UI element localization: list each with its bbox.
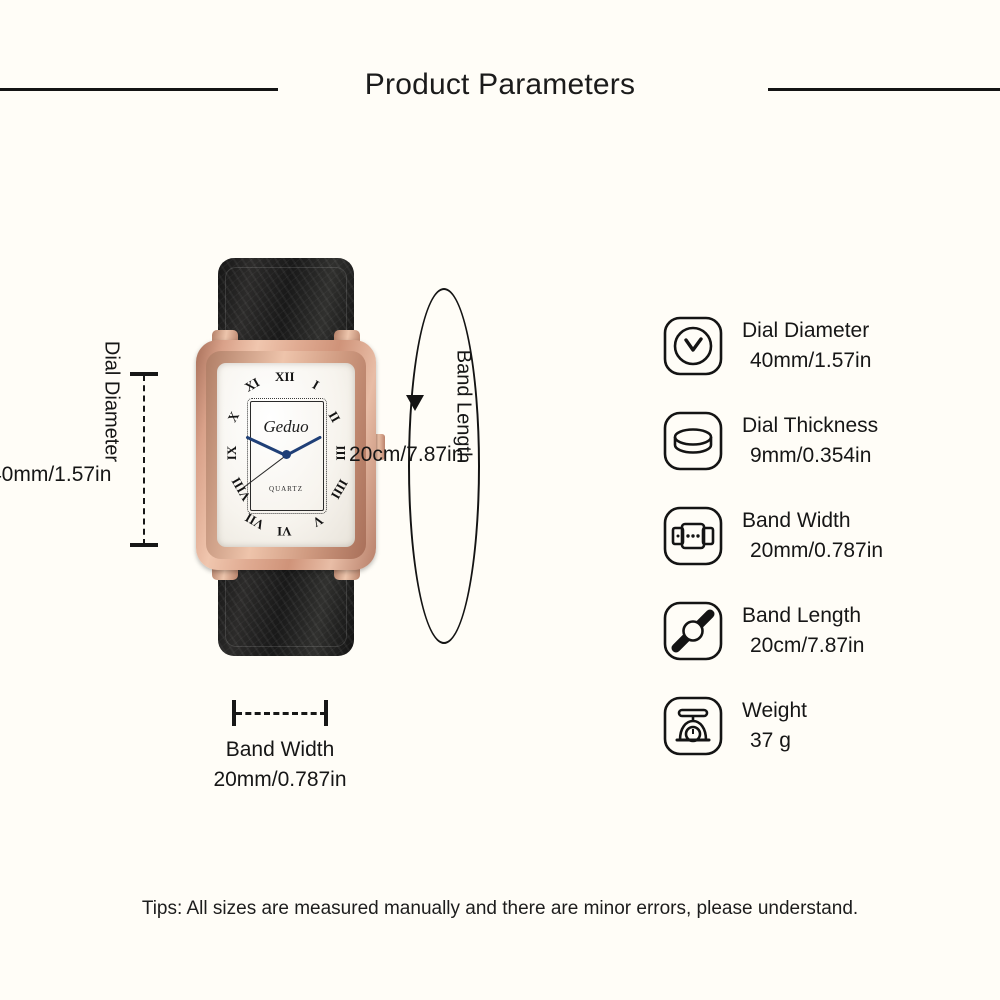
dial-numeral-1: I (309, 377, 321, 393)
band-length-callout-value: 20cm/7.87in (349, 443, 463, 467)
dial-hand-pinion (282, 450, 291, 459)
spec-value-weight: 37 g (742, 726, 807, 756)
spec-value-band-width: 20mm/0.787in (742, 536, 883, 566)
band-width-cap-right (324, 700, 328, 726)
disc-icon (662, 410, 724, 472)
spec-row-dial-thickness: Dial Thickness 9mm/0.354in (662, 393, 992, 488)
spec-text-band-width: Band Width 20mm/0.787in (742, 506, 883, 566)
band-width-callout-label: Band Width (226, 738, 335, 761)
spec-text-weight: Weight 37 g (742, 696, 807, 756)
spec-value-dial-diameter: 40mm/1.57in (742, 346, 871, 376)
dial-brand-name: Geduo (217, 417, 355, 437)
band-width-callout: Band Width 20mm/0.787in (130, 735, 430, 796)
dial-numeral-7: VII (242, 509, 267, 533)
scale-icon (662, 695, 724, 757)
spec-text-dial-diameter: Dial Diameter 40mm/1.57in (742, 316, 871, 376)
spec-label-weight: Weight (742, 699, 807, 722)
spec-label-band-width: Band Width (742, 509, 851, 532)
spec-text-dial-thickness: Dial Thickness 9mm/0.354in (742, 411, 878, 471)
product-parameters-infographic: Product Parameters XII I II III IIII V V (0, 0, 1000, 1000)
watch-dial: XII I II III IIII V VI VII VIII IX X XI … (217, 363, 355, 547)
dial-diameter-dimension-line (143, 375, 145, 545)
spec-label-dial-thickness: Dial Thickness (742, 414, 878, 437)
dial-diameter-cap-bottom (130, 543, 158, 547)
dial-movement-text: QUARTZ (217, 485, 355, 493)
spec-value-dial-thickness: 9mm/0.354in (742, 441, 878, 471)
band-length-arrow-icon (406, 395, 424, 411)
spec-row-weight: Weight 37 g (662, 678, 992, 773)
dial-diameter-callout-label: Dial Diameter (100, 327, 123, 477)
strap-icon (662, 600, 724, 662)
dial-diameter-callout-value: 40mm/1.57in (0, 463, 111, 487)
spec-row-band-length: Band Length 20cm/7.87in (662, 583, 992, 678)
spec-list: Dial Diameter 40mm/1.57in Dial Thickness… (662, 298, 992, 773)
dial-numeral-3: III (333, 445, 349, 460)
dial-numeral-12: XII (275, 369, 295, 385)
dial-numeral-9: IX (224, 446, 240, 460)
page-title: Product Parameters (0, 68, 1000, 102)
band-width-dimension-line (236, 712, 326, 715)
spec-row-band-width: Band Width 20mm/0.787in (662, 488, 992, 583)
dial-numeral-11: XI (242, 374, 263, 395)
spec-row-dial-diameter: Dial Diameter 40mm/1.57in (662, 298, 992, 393)
dial-numeral-6: VI (277, 523, 291, 539)
spec-label-band-length: Band Length (742, 604, 861, 627)
band-width-callout-value: 20mm/0.787in (213, 768, 346, 791)
buckle-icon (662, 505, 724, 567)
clock-icon (662, 315, 724, 377)
spec-text-band-length: Band Length 20cm/7.87in (742, 601, 864, 661)
spec-label-dial-diameter: Dial Diameter (742, 319, 869, 342)
spec-value-band-length: 20cm/7.87in (742, 631, 864, 661)
dial-numeral-5: V (310, 512, 326, 531)
footer-tip-text: Tips: All sizes are measured manually an… (0, 898, 1000, 920)
